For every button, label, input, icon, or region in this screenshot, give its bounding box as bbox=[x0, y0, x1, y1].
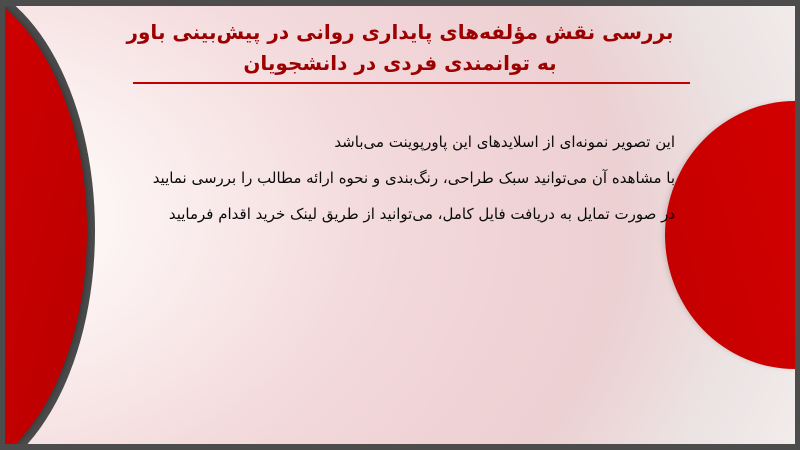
right-red-ellipse bbox=[665, 101, 795, 369]
slide-body-text: این تصویر نمونه‌ای از اسلایدهای این پاور… bbox=[75, 124, 675, 232]
body-line-3: در صورت تمایل به دریافت فایل کامل، می‌تو… bbox=[75, 196, 675, 232]
title-line-1: بررسی نقش مؤلفه‌های پایداری روانی در پیش… bbox=[5, 17, 795, 48]
presentation-slide: بررسی نقش مؤلفه‌های پایداری روانی در پیش… bbox=[0, 0, 800, 450]
title-underline-rule bbox=[133, 82, 690, 84]
slide-title: بررسی نقش مؤلفه‌های پایداری روانی در پیش… bbox=[5, 17, 795, 79]
title-line-2: به توانمندی فردی در دانشجویان bbox=[5, 48, 795, 79]
slide-canvas: بررسی نقش مؤلفه‌های پایداری روانی در پیش… bbox=[5, 6, 795, 444]
body-line-2: با مشاهده آن می‌توانید سبک طراحی، رنگ‌بن… bbox=[75, 160, 675, 196]
body-line-1: این تصویر نمونه‌ای از اسلایدهای این پاور… bbox=[75, 124, 675, 160]
